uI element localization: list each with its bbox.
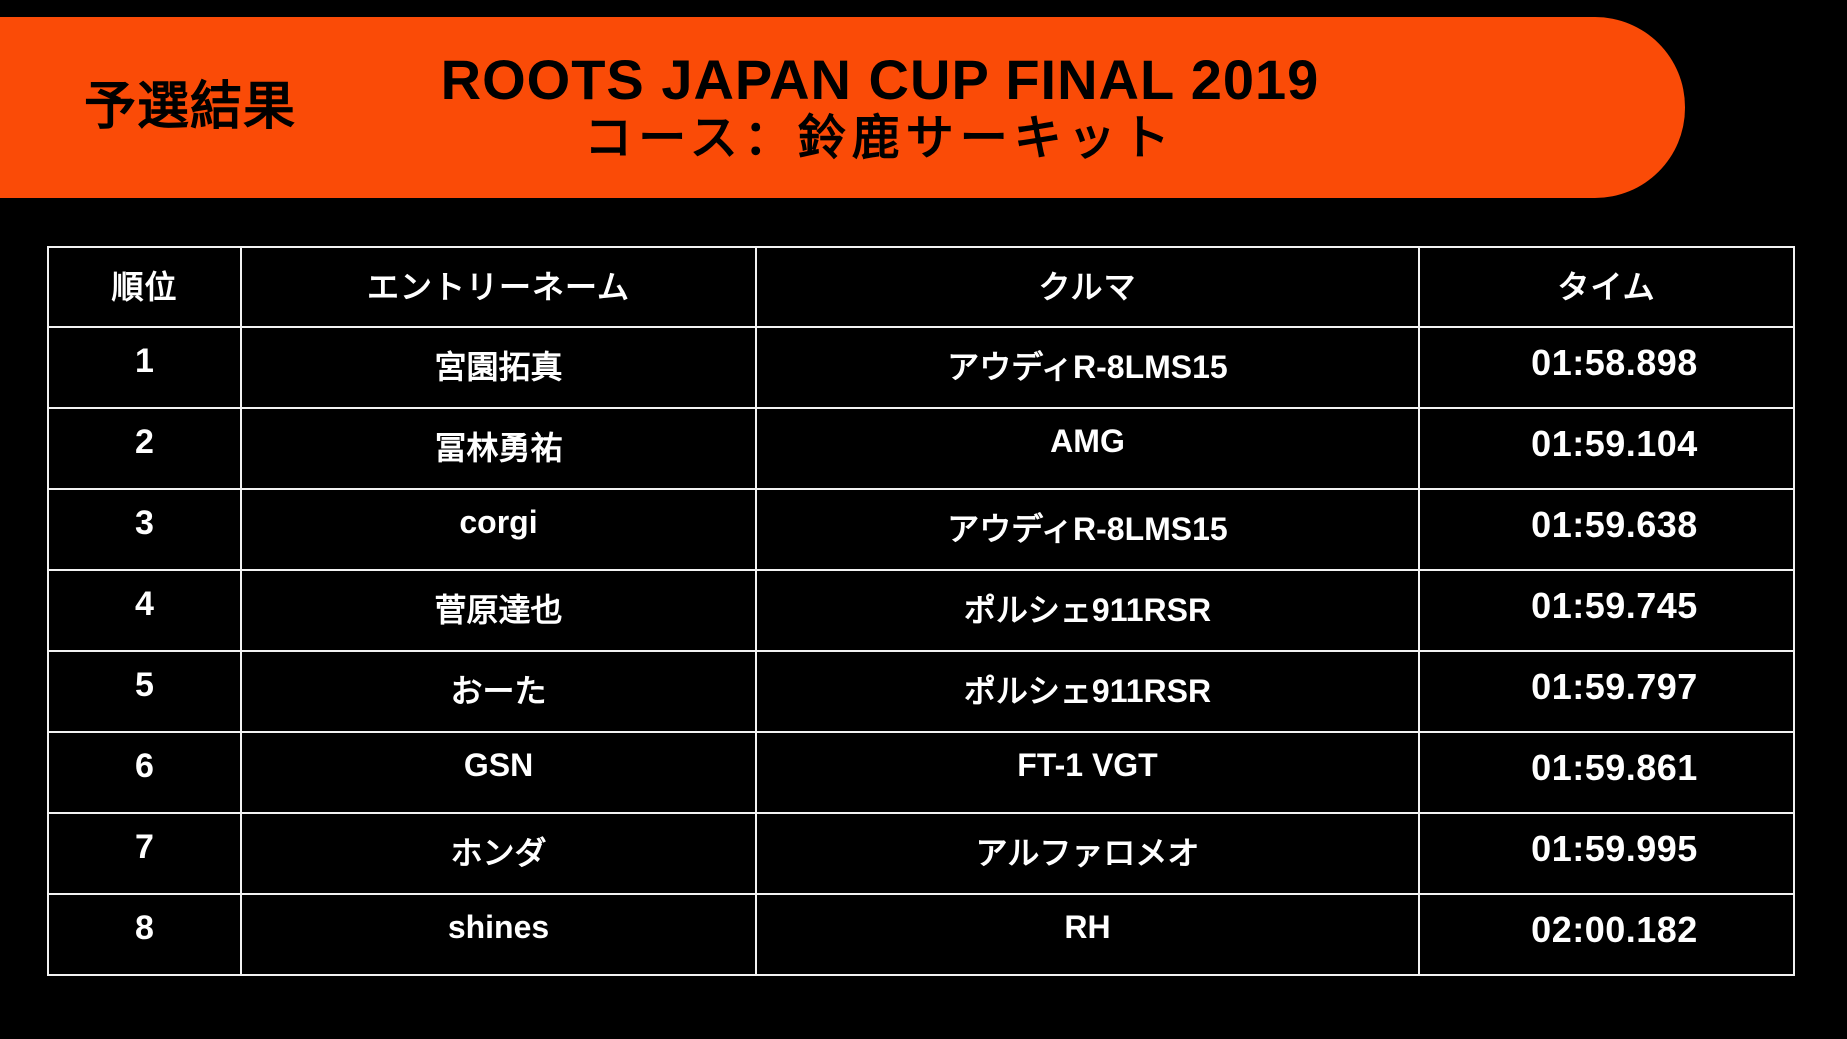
cell-rank-text: 6: [49, 733, 240, 786]
cell-car-text: ポルシェ911RSR: [757, 571, 1418, 631]
cell-car: ポルシェ911RSR: [756, 651, 1419, 732]
cell-name: shines: [241, 894, 756, 975]
cell-time-text: 01:59.797: [1420, 652, 1793, 708]
column-header-time: タイム: [1419, 247, 1794, 327]
cell-time-text: 01:58.898: [1420, 328, 1793, 384]
cell-time-text: 01:59.861: [1420, 733, 1793, 789]
cell-time-text: 02:00.182: [1420, 895, 1793, 951]
table-header: 順位 エントリーネーム クルマ タイム: [48, 247, 1794, 327]
cell-name-text: おーた: [242, 652, 755, 712]
cell-car-text: FT-1 VGT: [757, 733, 1418, 784]
table-body: 1宮園拓真アウディR-8LMS1501:58.8982冨林勇祐AMG01:59.…: [48, 327, 1794, 975]
cell-name: ホンダ: [241, 813, 756, 894]
table-row: 7ホンダアルファロメオ01:59.995: [48, 813, 1794, 894]
event-heading: ROOTS JAPAN CUP FINAL 2019 コース：鈴鹿サーキット: [380, 49, 1380, 165]
cell-name-text: corgi: [242, 490, 755, 541]
cell-name: 冨林勇祐: [241, 408, 756, 489]
cell-name-text: 宮園拓真: [242, 328, 755, 388]
cell-name-text: 菅原達也: [242, 571, 755, 631]
column-header-car-label: クルマ: [757, 248, 1418, 308]
cell-rank-text: 4: [49, 571, 240, 624]
qualifying-results-table: 順位 エントリーネーム クルマ タイム 1宮園拓真アウディR-8LMS1501:…: [47, 246, 1795, 976]
cell-rank: 5: [48, 651, 241, 732]
cell-name: おーた: [241, 651, 756, 732]
cell-rank: 4: [48, 570, 241, 651]
cell-car-text: アウディR-8LMS15: [757, 490, 1418, 550]
cell-rank-text: 3: [49, 490, 240, 543]
table-header-row: 順位 エントリーネーム クルマ タイム: [48, 247, 1794, 327]
cell-name: 菅原達也: [241, 570, 756, 651]
results-slide: 予選結果 ROOTS JAPAN CUP FINAL 2019 コース：鈴鹿サー…: [0, 0, 1847, 1039]
cell-name-text: ホンダ: [242, 814, 755, 874]
cell-rank-text: 2: [49, 409, 240, 462]
cell-name: corgi: [241, 489, 756, 570]
column-header-time-label: タイム: [1420, 248, 1793, 308]
cell-car-text: アルファロメオ: [757, 814, 1418, 874]
cell-time-text: 01:59.995: [1420, 814, 1793, 870]
cell-time: 01:59.995: [1419, 813, 1794, 894]
cell-name: GSN: [241, 732, 756, 813]
cell-name-text: 冨林勇祐: [242, 409, 755, 469]
table-row: 6GSNFT-1 VGT01:59.861: [48, 732, 1794, 813]
qualifying-result-badge: 予選結果: [0, 79, 380, 136]
column-header-entry-name: エントリーネーム: [241, 247, 756, 327]
cell-car: AMG: [756, 408, 1419, 489]
table-row: 2冨林勇祐AMG01:59.104: [48, 408, 1794, 489]
results-table-container: 順位 エントリーネーム クルマ タイム 1宮園拓真アウディR-8LMS1501:…: [47, 246, 1793, 976]
event-course: コース：鈴鹿サーキット: [380, 112, 1380, 166]
header-banner: 予選結果 ROOTS JAPAN CUP FINAL 2019 コース：鈴鹿サー…: [0, 17, 1685, 198]
cell-rank: 6: [48, 732, 241, 813]
cell-time-text: 01:59.745: [1420, 571, 1793, 627]
cell-car: RH: [756, 894, 1419, 975]
column-header-rank-label: 順位: [49, 248, 240, 308]
cell-time: 02:00.182: [1419, 894, 1794, 975]
table-row: 3corgiアウディR-8LMS1501:59.638: [48, 489, 1794, 570]
cell-time: 01:59.861: [1419, 732, 1794, 813]
cell-car: アウディR-8LMS15: [756, 327, 1419, 408]
cell-rank-text: 8: [49, 895, 240, 948]
event-title: ROOTS JAPAN CUP FINAL 2019: [380, 49, 1380, 112]
cell-car: アウディR-8LMS15: [756, 489, 1419, 570]
cell-rank-text: 7: [49, 814, 240, 867]
cell-car-text: アウディR-8LMS15: [757, 328, 1418, 388]
cell-time-text: 01:59.104: [1420, 409, 1793, 465]
cell-rank: 7: [48, 813, 241, 894]
cell-rank-text: 5: [49, 652, 240, 705]
cell-rank: 1: [48, 327, 241, 408]
cell-name-text: shines: [242, 895, 755, 946]
cell-rank: 3: [48, 489, 241, 570]
cell-name-text: GSN: [242, 733, 755, 784]
column-header-rank: 順位: [48, 247, 241, 327]
cell-car-text: AMG: [757, 409, 1418, 460]
cell-rank-text: 1: [49, 328, 240, 381]
column-header-entry-name-label: エントリーネーム: [242, 248, 755, 308]
cell-time: 01:59.797: [1419, 651, 1794, 732]
table-row: 4菅原達也ポルシェ911RSR01:59.745: [48, 570, 1794, 651]
cell-time-text: 01:59.638: [1420, 490, 1793, 546]
cell-car: ポルシェ911RSR: [756, 570, 1419, 651]
cell-rank: 8: [48, 894, 241, 975]
cell-time: 01:58.898: [1419, 327, 1794, 408]
cell-car-text: ポルシェ911RSR: [757, 652, 1418, 712]
table-row: 8shinesRH02:00.182: [48, 894, 1794, 975]
table-row: 1宮園拓真アウディR-8LMS1501:58.898: [48, 327, 1794, 408]
column-header-car: クルマ: [756, 247, 1419, 327]
cell-car-text: RH: [757, 895, 1418, 946]
cell-rank: 2: [48, 408, 241, 489]
cell-name: 宮園拓真: [241, 327, 756, 408]
cell-time: 01:59.638: [1419, 489, 1794, 570]
cell-time: 01:59.745: [1419, 570, 1794, 651]
table-row: 5おーたポルシェ911RSR01:59.797: [48, 651, 1794, 732]
cell-car: FT-1 VGT: [756, 732, 1419, 813]
cell-time: 01:59.104: [1419, 408, 1794, 489]
cell-car: アルファロメオ: [756, 813, 1419, 894]
